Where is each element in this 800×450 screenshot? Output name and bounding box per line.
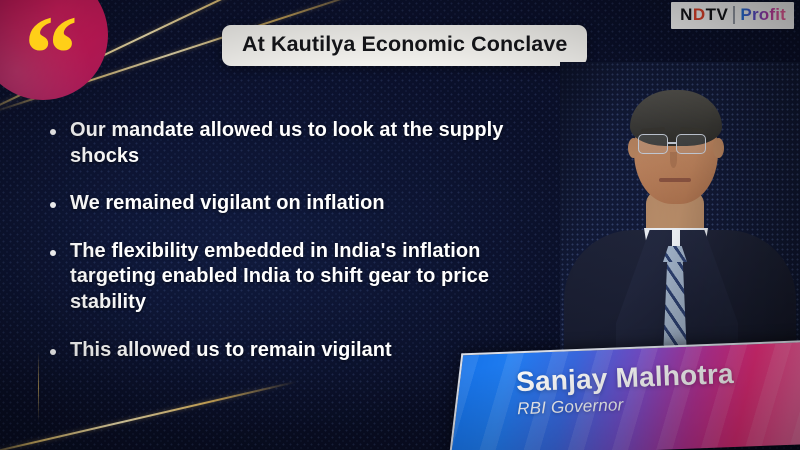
gold-vertical-hairline — [38, 352, 39, 422]
portrait-edge-shading — [560, 62, 800, 362]
lower-third-name-banner: Sanjay Malhotra RBI Governor — [449, 338, 800, 450]
broadcast-graphic-stage: “ NDTV Profit At Kautilya Economic Concl… — [0, 0, 800, 450]
quote-bullet-list: Our mandate allowed us to look at the su… — [50, 118, 520, 385]
bullet-dot-icon — [50, 202, 56, 208]
list-item: Our mandate allowed us to look at the su… — [50, 118, 520, 169]
list-item: The flexibility embedded in India's infl… — [50, 239, 520, 316]
list-item: This allowed us to remain vigilant — [50, 338, 520, 364]
logo-divider — [733, 6, 735, 24]
list-item: We remained vigilant on inflation — [50, 191, 520, 217]
page-title: At Kautilya Economic Conclave — [242, 32, 567, 57]
list-item-label: We remained vigilant on inflation — [70, 191, 385, 217]
gold-diagonal-accent-lower — [0, 381, 297, 450]
logo-d-accent: D — [693, 5, 706, 24]
list-item-label: The flexibility embedded in India's infl… — [70, 239, 520, 316]
list-item-label: Our mandate allowed us to look at the su… — [70, 118, 520, 169]
speaker-portrait — [560, 62, 800, 362]
list-item-label: This allowed us to remain vigilant — [70, 338, 392, 364]
quotation-mark-badge: “ — [0, 0, 108, 100]
logo-ndtv-text: NDTV — [680, 5, 728, 25]
ndtv-profit-logo: NDTV Profit — [671, 2, 794, 29]
headline-pill: At Kautilya Economic Conclave — [222, 25, 587, 66]
bullet-dot-icon — [50, 250, 56, 256]
logo-profit-text: Profit — [740, 5, 786, 25]
bullet-dot-icon — [50, 129, 56, 135]
lower-third-content: Sanjay Malhotra RBI Governor — [455, 340, 800, 450]
bullet-dot-icon — [50, 349, 56, 355]
quotation-mark-icon: “ — [24, 1, 76, 109]
